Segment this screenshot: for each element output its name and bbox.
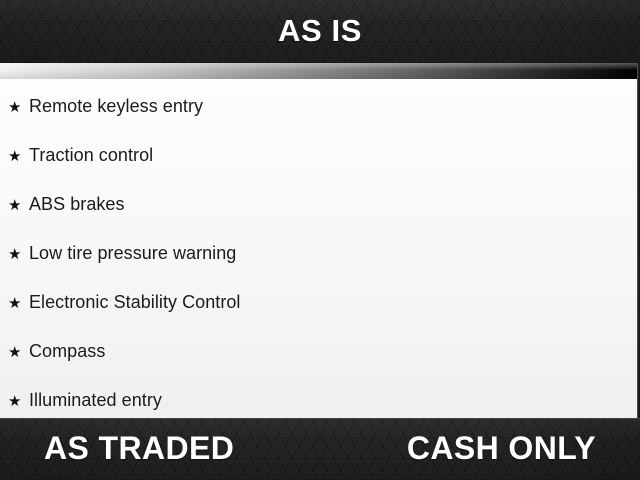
- feature-label: Electronic Stability Control: [29, 293, 241, 311]
- star-icon: ★: [8, 345, 29, 360]
- star-icon: ★: [8, 394, 29, 409]
- feature-list: ★ Remote keyless entry ★ Traction contro…: [0, 79, 640, 418]
- header-banner: AS IS: [0, 0, 640, 63]
- list-item: ★ ABS brakes: [0, 195, 640, 244]
- page-title: AS IS: [278, 15, 362, 48]
- feature-label: Compass: [29, 342, 105, 360]
- header-banner-inner: AS IS: [0, 0, 640, 63]
- list-item: ★ Remote keyless entry: [0, 97, 640, 146]
- feature-label: Traction control: [29, 146, 153, 164]
- list-item: ★ Low tire pressure warning: [0, 244, 640, 293]
- footer-left-label: AS TRADED: [44, 432, 234, 464]
- list-item: ★ Compass: [0, 342, 640, 391]
- vehicle-disclosure-sheet: AS IS ★ Remote keyless entry ★ Traction …: [0, 0, 640, 480]
- feature-label: Illuminated entry: [29, 391, 162, 409]
- list-item: ★ Electronic Stability Control: [0, 293, 640, 342]
- star-icon: ★: [8, 100, 29, 115]
- feature-label: ABS brakes: [29, 195, 125, 213]
- star-icon: ★: [8, 198, 29, 213]
- feature-label: Remote keyless entry: [29, 97, 203, 115]
- star-icon: ★: [8, 296, 29, 311]
- star-icon: ★: [8, 149, 29, 164]
- feature-label: Low tire pressure warning: [29, 244, 236, 262]
- header-gradient-divider: [0, 63, 640, 79]
- footer-banner: AS TRADED CASH ONLY: [0, 418, 640, 480]
- star-icon: ★: [8, 247, 29, 262]
- list-item: ★ Traction control: [0, 146, 640, 195]
- footer-right-label: CASH ONLY: [407, 432, 596, 464]
- footer-banner-inner: AS TRADED CASH ONLY: [0, 418, 640, 480]
